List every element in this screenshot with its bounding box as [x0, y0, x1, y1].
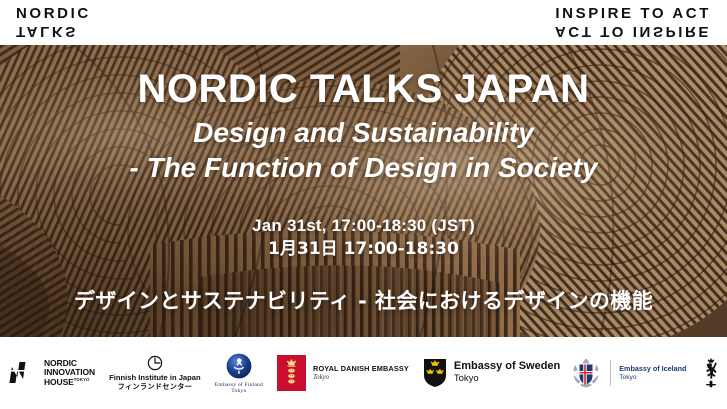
top-brand-bar: NORDIC TALKS INSPIRE TO ACT ACT TO INSPI… — [0, 0, 727, 45]
embassy-of-finland-city: Tokyo — [231, 388, 246, 394]
nordic-innovation-house-n-mark — [6, 358, 36, 388]
royal-danish-embassy-name: ROYAL DANISH EMBASSY — [313, 365, 409, 373]
nordic-talks-logo-bottom: TALKS — [16, 24, 91, 39]
logo-nordic-innovation-house[interactable]: NORDIC INNOVATION HOUSETOKYO — [6, 350, 95, 396]
embassy-of-sweden-name: Embassy of Sweden — [454, 361, 560, 373]
event-date-japanese: 1月31日 17:00-18:30 — [0, 239, 727, 260]
nordic-innovation-house-wordmark: NORDIC INNOVATION HOUSETOKYO — [44, 359, 95, 387]
finnish-institute-name-jp: フィンランドセンター — [118, 382, 193, 392]
inspire-to-act-slogan-top: INSPIRE TO ACT — [555, 6, 711, 21]
logo-embassy-of-iceland[interactable]: Embassy of Iceland Tokyo — [570, 350, 686, 396]
embassy-of-iceland-wordmark: Embassy of Iceland Tokyo — [619, 365, 686, 381]
nih-line-3: HOUSETOKYO — [44, 378, 95, 387]
logo-royal-danish-embassy[interactable]: ROYAL DANISH EMBASSY Tokyo — [277, 350, 409, 396]
embassy-of-sweden-city: Tokyo — [454, 374, 560, 384]
embassy-of-iceland-name: Embassy of Iceland — [619, 365, 686, 373]
inspire-to-act-slogan-bottom: ACT TO INSPIRE — [555, 24, 711, 39]
finnish-institute-circle-mark — [147, 355, 163, 371]
partner-logo-bar: NORDIC INNOVATION HOUSETOKYO Finnish Ins… — [0, 337, 727, 409]
logo-norwegian-embassy[interactable]: Norwegian Embassy Tokyo — [700, 350, 727, 396]
inspire-to-act-slogan: INSPIRE TO ACT ACT TO INSPIRE — [555, 6, 711, 39]
event-subtitle-line2: - The Function of Design in Society — [0, 151, 727, 185]
danish-coat-of-arms-shield — [277, 355, 306, 391]
event-tagline-japanese: デザインとサステナビリティ - 社会におけるデザインの機能 — [0, 285, 727, 315]
logo-embassy-of-finland[interactable]: Embassy of Finland Tokyo — [215, 350, 263, 396]
event-poster: NORDIC TALKS INSPIRE TO ACT ACT TO INSPI… — [0, 0, 727, 409]
logo-embassy-of-sweden[interactable]: Embassy of Sweden Tokyo — [423, 350, 560, 396]
nih-line-3-text: HOUSE — [44, 377, 74, 387]
iceland-coat-of-arms — [570, 357, 602, 389]
event-subtitle-line1: Design and Sustainability — [0, 116, 727, 150]
embassy-of-finland-lockup: Embassy of Finland Tokyo — [215, 353, 263, 394]
event-date-english: Jan 31st, 17:00-18:30 (JST) — [0, 215, 727, 236]
nordic-talks-logo: NORDIC TALKS — [16, 6, 91, 39]
nih-city: TOKYO — [74, 377, 90, 382]
logo-divider — [610, 360, 611, 386]
logo-finnish-institute-in-japan[interactable]: Finnish Institute in Japan フィンランドセンター — [109, 350, 201, 396]
embassy-of-sweden-wordmark: Embassy of Sweden Tokyo — [454, 361, 560, 384]
embassy-of-iceland-city: Tokyo — [619, 374, 686, 381]
royal-danish-embassy-wordmark: ROYAL DANISH EMBASSY Tokyo — [313, 365, 409, 381]
royal-danish-embassy-city: Tokyo — [313, 374, 409, 381]
nordic-talks-logo-top: NORDIC — [16, 6, 91, 21]
norway-lion-crest — [700, 358, 722, 388]
swedish-three-crowns-shield — [423, 358, 447, 388]
finnish-institute-lockup: Finnish Institute in Japan フィンランドセンター — [109, 355, 201, 392]
finnish-institute-name-en: Finnish Institute in Japan — [109, 373, 201, 382]
finland-lion-roundel — [226, 353, 252, 379]
event-title: NORDIC TALKS JAPAN — [0, 68, 727, 110]
